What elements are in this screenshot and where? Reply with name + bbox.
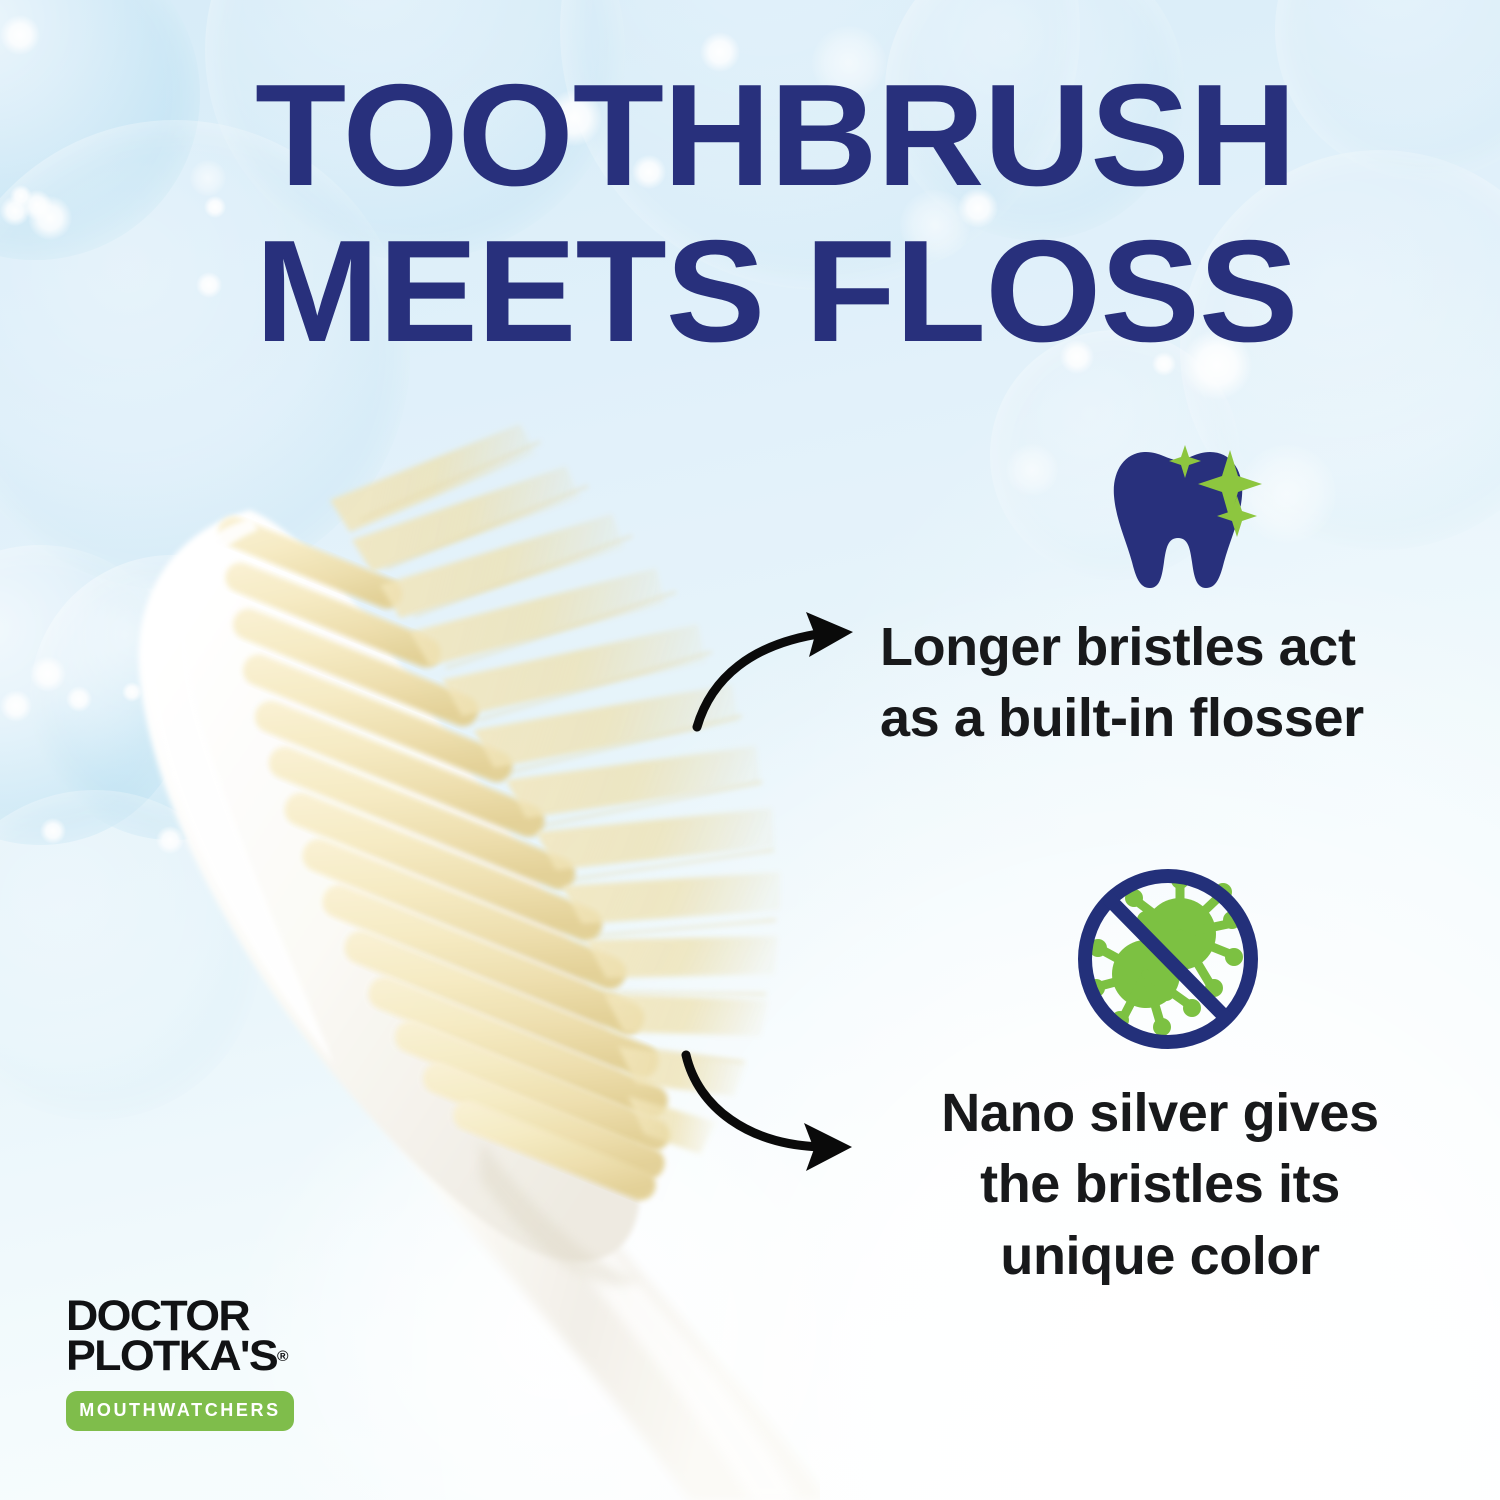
tooth-sparkle-icon bbox=[1090, 428, 1300, 603]
background-bokeh bbox=[204, 196, 226, 218]
logo-line-doctor: DOCTOR bbox=[66, 1296, 336, 1336]
feature-2-line-2: the bristles its bbox=[880, 1149, 1440, 1220]
feature-2-line-3: unique color bbox=[880, 1221, 1440, 1292]
background-bokeh bbox=[196, 272, 222, 298]
feature-1-line-2: as a built-in flosser bbox=[880, 683, 1450, 754]
tooth-shape bbox=[1114, 452, 1242, 588]
page-title-line-2: MEETS FLOSS bbox=[255, 218, 1295, 364]
logo-apostrophe-s: 'S bbox=[240, 1332, 277, 1380]
curved-arrow-down-right-icon bbox=[672, 1045, 872, 1175]
feature-1-line-1: Longer bristles act bbox=[880, 612, 1450, 683]
background-bokeh bbox=[1006, 444, 1058, 496]
mouthwatchers-badge-label: MOUTHWATCHERS bbox=[79, 1400, 280, 1421]
page-title-line-1: TOOTHBRUSH bbox=[255, 54, 1296, 216]
page-title: TOOTHBRUSH MEETS FLOSS bbox=[255, 62, 1295, 365]
background-bokeh bbox=[0, 196, 30, 226]
feature-1-caption: Longer bristles act as a built-in flosse… bbox=[880, 612, 1450, 755]
infographic-canvas: TOOTHBRUSH MEETS FLOSS bbox=[0, 0, 1500, 1500]
background-bokeh bbox=[0, 15, 40, 55]
feature-2-line-1: Nano silver gives bbox=[880, 1078, 1440, 1149]
mouthwatchers-badge[interactable]: MOUTHWATCHERS bbox=[66, 1391, 294, 1431]
no-germs-icon bbox=[1068, 862, 1268, 1057]
background-bokeh bbox=[190, 160, 226, 196]
brand-logo[interactable]: DOCTOR PLOTKA'S® MOUTHWATCHERS bbox=[66, 1296, 326, 1431]
logo-line-plotkas: PLOTKA'S® bbox=[66, 1336, 336, 1376]
logo-plotka-text: PLOTKA bbox=[66, 1332, 240, 1380]
registered-trademark-icon: ® bbox=[277, 1348, 289, 1365]
feature-2-caption: Nano silver gives the bristles its uniqu… bbox=[880, 1078, 1440, 1292]
curved-arrow-up-right-icon bbox=[685, 605, 875, 740]
background-bokeh bbox=[28, 196, 72, 240]
